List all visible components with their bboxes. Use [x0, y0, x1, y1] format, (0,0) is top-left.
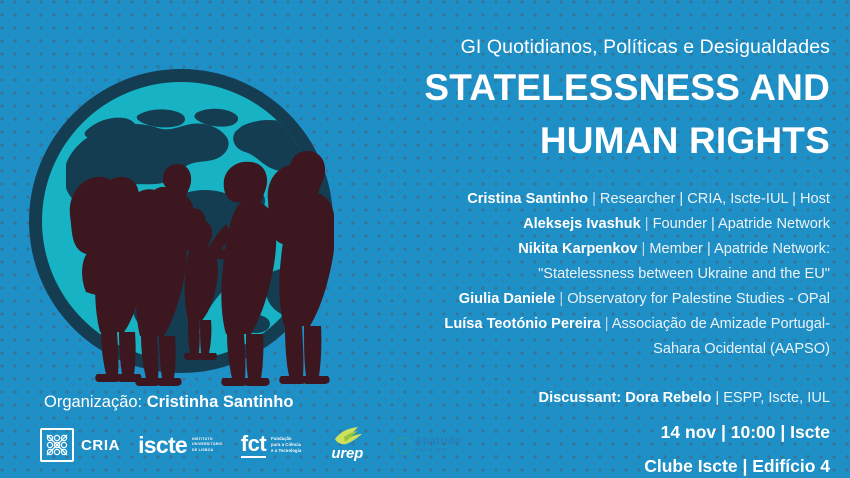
- event-poster: GI Quotidianos, Políticas e Desigualdade…: [0, 0, 850, 478]
- iscte-wordmark: iscte: [138, 434, 187, 457]
- speaker-row: Aleksejs Ivashuk | Founder | Apatride Ne…: [330, 212, 830, 237]
- globe-illustration: [28, 56, 334, 386]
- sponsor-logo-row: CRIA iscte INSTITUTO UNIVERSITÁRIO DE LI…: [40, 424, 479, 466]
- speaker-name: Luísa Teotónio Pereira: [444, 316, 600, 332]
- speaker-details: Member | Apatride Network:: [649, 241, 830, 257]
- fct-sub-1: Fundação: [271, 436, 292, 441]
- logo-cria: CRIA: [40, 426, 120, 464]
- logo-iscte: iscte INSTITUTO UNIVERSITÁRIO DE LISBOA: [138, 426, 223, 464]
- urep-wordmark: urep: [331, 445, 363, 462]
- speaker-row: Luísa Teotónio Pereira | Associação de A…: [330, 312, 830, 337]
- speaker-details: Researcher | CRIA, Iscte-IUL | Host: [600, 191, 830, 207]
- poster-kicker: GI Quotidianos, Políticas e Desigualdade…: [330, 36, 830, 59]
- cria-wordmark: CRIA: [81, 437, 120, 454]
- iscte-subtitle: INSTITUTO UNIVERSITÁRIO DE LISBOA: [192, 437, 223, 453]
- fct-sub-2: para a Ciência: [271, 442, 301, 447]
- fct-subtitle: Fundação para a Ciência e a Tecnologia: [271, 436, 301, 454]
- speaker-talk-title: "Statelessness between Ukraine and the E…: [330, 262, 830, 287]
- speaker-row: Giulia Daniele | Observatory for Palesti…: [330, 287, 830, 312]
- iscte-sub-2: UNIVERSITÁRIO: [192, 442, 223, 446]
- discussant-label: Discussant: Dora Rebelo: [539, 390, 712, 406]
- logo-apatride-network: Apatride NETWORK: [395, 426, 479, 464]
- logo-fct: fct Fundação para a Ciência e a Tecnolog…: [241, 426, 302, 464]
- speaker-details: Founder | Apatride Network: [653, 216, 830, 232]
- page-title: STATELESSNESS AND HUMAN RIGHTS: [330, 65, 830, 164]
- speaker-name: Aleksejs Ivashuk: [523, 216, 641, 232]
- iscte-sub-3: DE LISBOA: [192, 448, 213, 452]
- urep-bird-icon: [333, 426, 363, 446]
- discussant-affiliation: ESPP, Iscte, IUL: [723, 390, 830, 406]
- speaker-list: Cristina Santinho | Researcher | CRIA, I…: [330, 187, 830, 363]
- speaker-row: Nikita Karpenkov | Member | Apatride Net…: [330, 237, 830, 262]
- discussant-row: Discussant: Dora Rebelo | ESPP, Iscte, I…: [330, 386, 830, 411]
- speaker-details: Associação de Amizade Portugal-: [612, 316, 830, 332]
- speaker-name: Giulia Daniele: [459, 291, 556, 307]
- logo-urep: urep: [319, 426, 377, 464]
- organizer-name: Cristinha Santinho: [147, 393, 294, 411]
- apatride-wordmark: Apatride: [414, 435, 461, 447]
- fct-sub-3: e a Tecnologia: [271, 448, 301, 453]
- speaker-name: Cristina Santinho: [467, 191, 588, 207]
- speaker-name: Nikita Karpenkov: [518, 241, 637, 257]
- cria-emblem-icon: [40, 428, 74, 462]
- apatride-ring-icon: [395, 437, 412, 454]
- speaker-details: Observatory for Palestine Studies - OPal: [567, 291, 830, 307]
- fct-wordmark: fct: [241, 433, 266, 458]
- speaker-row: Cristina Santinho | Researcher | CRIA, I…: [330, 187, 830, 212]
- organizer-line: Organização: Cristinha Santinho: [44, 393, 293, 412]
- organizer-label: Organização:: [44, 393, 142, 411]
- title-line-1: STATELESSNESS AND: [330, 65, 830, 112]
- poster-text-column: GI Quotidianos, Políticas e Desigualdade…: [330, 0, 830, 478]
- apatride-subtitle: NETWORK: [415, 447, 447, 452]
- speaker-affiliation-continuation: Sahara Ocidental (AAPSO): [330, 337, 830, 362]
- title-line-2: HUMAN RIGHTS: [330, 118, 830, 165]
- iscte-sub-1: INSTITUTO: [192, 437, 213, 441]
